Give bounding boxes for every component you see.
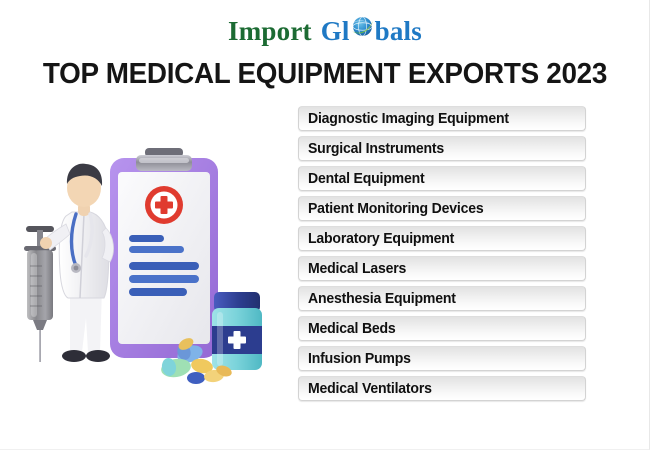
list-item[interactable]: Anesthesia Equipment [298, 286, 586, 311]
list-item-label: Surgical Instruments [308, 137, 444, 161]
list-item[interactable]: Dental Equipment [298, 166, 586, 191]
page-title: TOP MEDICAL EQUIPMENT EXPORTS 2023 [13, 58, 637, 91]
pill-bottle-icon [212, 292, 262, 370]
list-item-label: Medical Ventilators [308, 377, 432, 401]
globe-icon [350, 14, 375, 39]
list-item-label: Infusion Pumps [308, 347, 411, 371]
list-item[interactable]: Laboratory Equipment [298, 226, 586, 251]
list-item[interactable]: Patient Monitoring Devices [298, 196, 586, 221]
list-item-label: Medical Lasers [308, 257, 406, 281]
list-item[interactable]: Medical Lasers [298, 256, 586, 281]
list-item[interactable]: Medical Ventilators [298, 376, 586, 401]
list-item-label: Patient Monitoring Devices [308, 197, 483, 221]
clipboard-icon [110, 148, 218, 358]
brand-logo: ImportGl [0, 14, 650, 48]
list-item[interactable]: Infusion Pumps [298, 346, 586, 371]
list-item-label: Medical Beds [308, 317, 396, 341]
infographic-canvas: ImportGl [0, 0, 650, 450]
medical-illustration [18, 140, 288, 390]
list-item-label: Anesthesia Equipment [308, 287, 456, 311]
brand-word-import: Import [228, 16, 312, 46]
list-item[interactable]: Surgical Instruments [298, 136, 586, 161]
list-item-label: Laboratory Equipment [308, 227, 454, 251]
brand-word-gl: Gl [321, 16, 350, 46]
list-item-label: Dental Equipment [308, 167, 424, 191]
list-item-label: Diagnostic Imaging Equipment [308, 107, 509, 131]
list-item[interactable]: Medical Beds [298, 316, 586, 341]
list-item[interactable]: Diagnostic Imaging Equipment [298, 106, 586, 131]
export-category-list: Diagnostic Imaging Equipment Surgical In… [298, 106, 586, 406]
brand-word-bals: bals [375, 16, 422, 46]
